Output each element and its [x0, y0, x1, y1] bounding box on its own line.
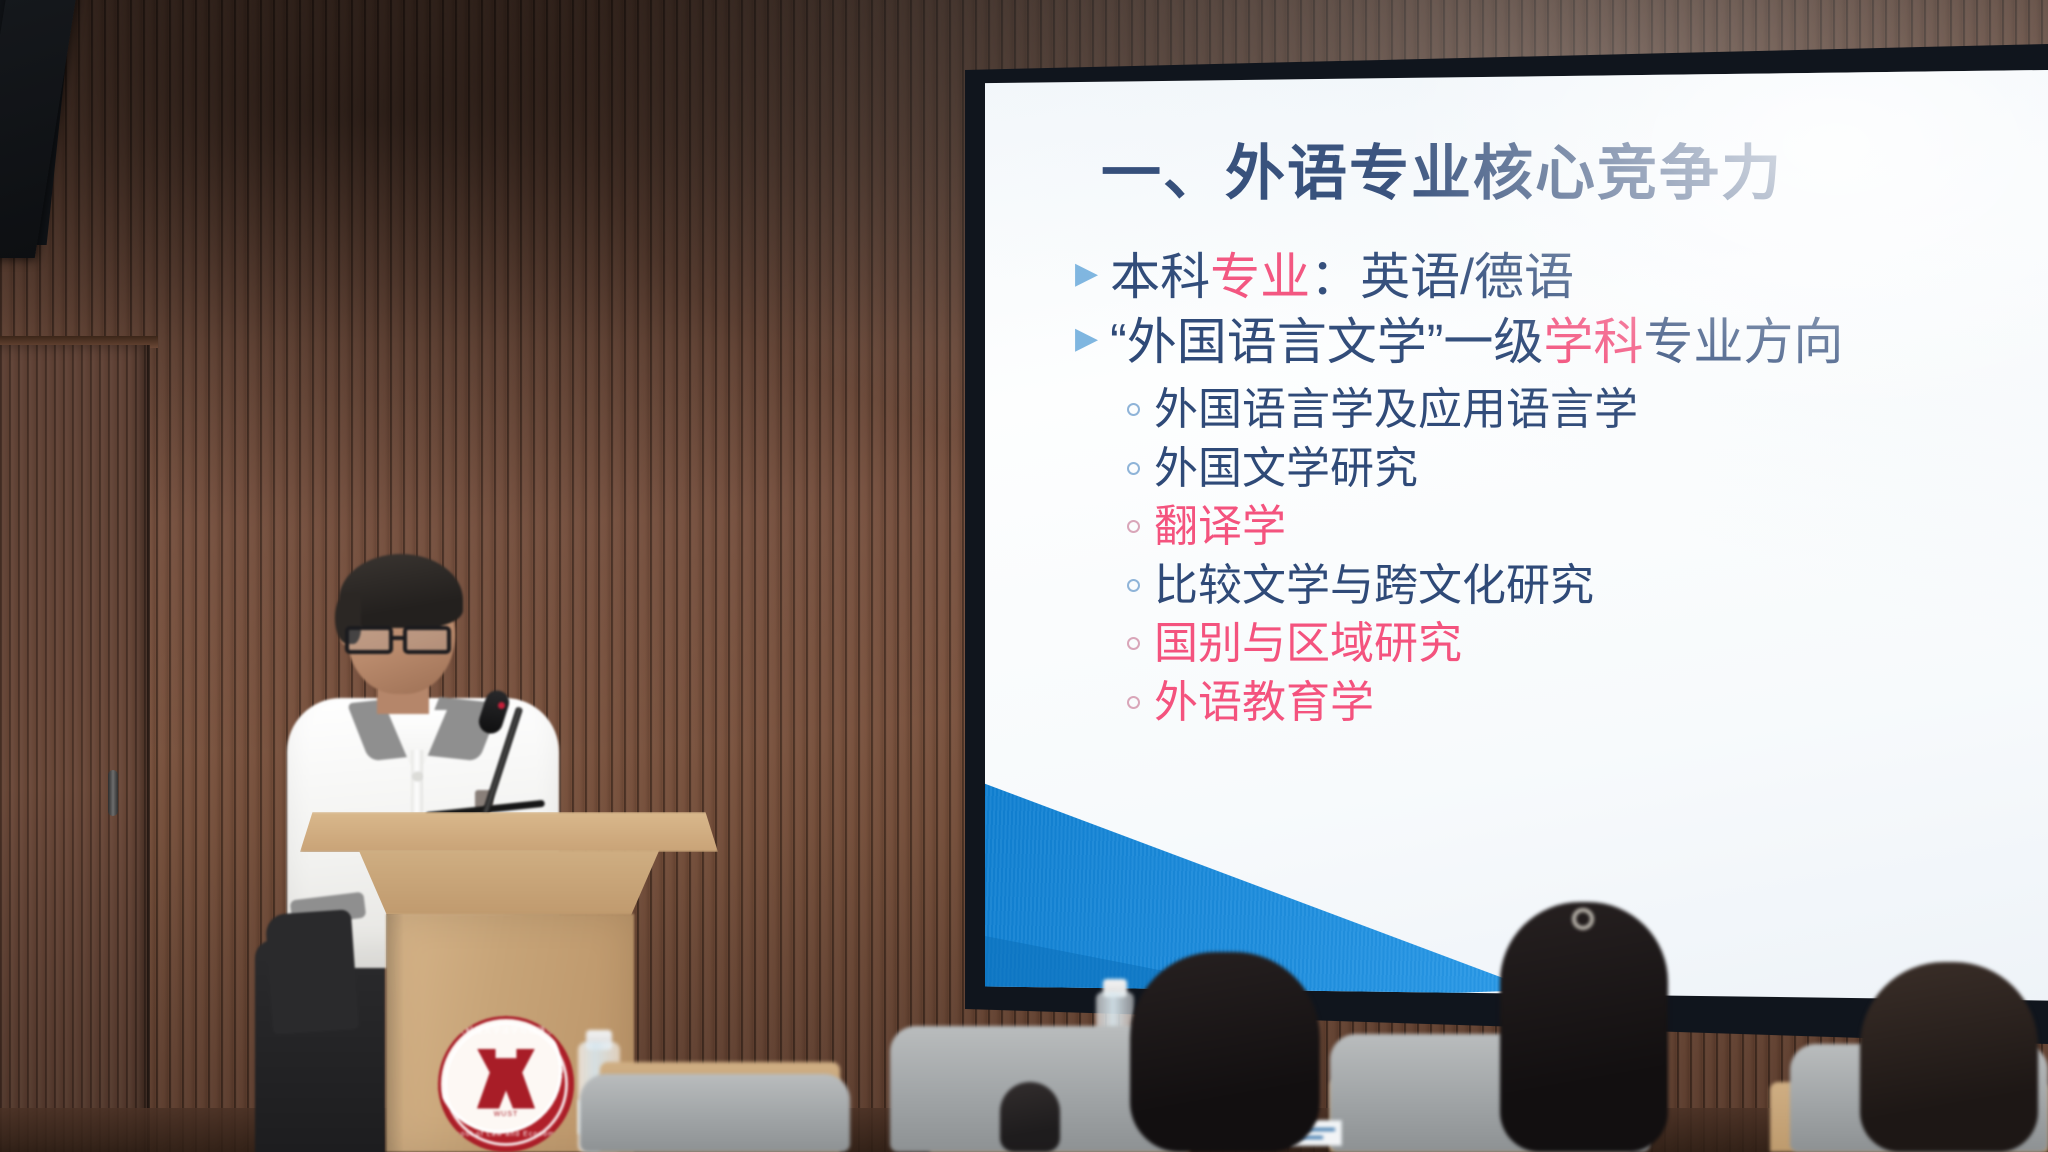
- slide-bullet-2-text: “外国语言文学”一级学科专业方向: [1110, 310, 1843, 375]
- speaker-arm: [265, 909, 359, 1035]
- slide-sub-item-3: 翻译学: [1127, 498, 2018, 557]
- slide-sub-item-1: 外国语言学及应用语言学: [1127, 381, 2018, 440]
- auditorium-seat[interactable]: [580, 1074, 850, 1152]
- glasses-icon: [345, 626, 463, 656]
- audience-head-2: [1500, 902, 1668, 1152]
- bullet-1-segment-2-highlight: 专业: [1210, 249, 1310, 305]
- glasses-lens-right: [403, 626, 451, 654]
- glasses-lens-left: [345, 626, 393, 654]
- podium-edge-shadow: [386, 914, 404, 1152]
- audience-head-3: [1860, 962, 2038, 1152]
- slide-sub-item-3-label: 翻译学: [1154, 498, 1286, 557]
- triangle-bullet-icon: ▶: [1075, 310, 1098, 367]
- slide-sub-item-4-label: 比较文学与跨文化研究: [1154, 557, 1594, 616]
- slide-bullet-2: ▶ “外国语言文学”一级学科专业方向: [1075, 310, 2018, 375]
- emblem-bottom-text: School of Law and Economics: [438, 1131, 574, 1138]
- slide-title: 一、外语专业核心竞争力: [1101, 142, 2018, 205]
- podium-top: [300, 812, 718, 852]
- triangle-bullet-icon: ▶: [1075, 245, 1098, 302]
- slide-sub-item-6: 外语教育学: [1127, 674, 2018, 733]
- ring-bullet-icon: [1127, 696, 1140, 709]
- ring-bullet-icon: [1127, 579, 1140, 592]
- lecture-hall-photo: 一、外语专业核心竞争力 ▶ 本科专业：英语/德语 ▶ “外国语言文学”一级学科专…: [0, 0, 2048, 1152]
- bullet-1-segment-1: 本科: [1110, 249, 1210, 305]
- projection-screen-bezel: 一、外语专业核心竞争力 ▶ 本科专业：英语/德语 ▶ “外国语言文学”一级学科专…: [965, 44, 2048, 1044]
- ring-bullet-icon: [1127, 520, 1140, 533]
- slide-sub-item-2-label: 外国文学研究: [1154, 440, 1418, 499]
- ring-bullet-icon: [1127, 403, 1140, 416]
- audience-head-4: [1000, 1082, 1060, 1152]
- ring-bullet-icon: [1127, 637, 1140, 650]
- slide-bullet-list: ▶ 本科专业：英语/德语 ▶ “外国语言文学”一级学科专业方向 外国语言学及应用…: [1075, 245, 2018, 732]
- bullet-2-segment-1: “外国语言文学”一级: [1110, 314, 1543, 370]
- audience-head-1: [1130, 952, 1320, 1152]
- microphone-indicator: [498, 702, 505, 709]
- podium-neck: [330, 850, 688, 916]
- emblem-top-text: 武汉科技大学法学与经济学院: [438, 1025, 574, 1036]
- university-emblem: 武汉科技大学法学与经济学院 WUST School of Law and Eco…: [438, 1016, 574, 1152]
- slide-bullet-1-text: 本科专业：英语/德语: [1110, 245, 1574, 310]
- bullet-2-segment-3: 专业方向: [1643, 314, 1843, 370]
- slide-sub-item-5-label: 国别与区域研究: [1154, 615, 1462, 674]
- slide-sub-item-5: 国别与区域研究: [1127, 615, 2018, 674]
- door-handle[interactable]: [108, 770, 118, 816]
- hall-door[interactable]: [0, 345, 150, 1152]
- hair-clip-icon: [1572, 908, 1594, 930]
- slide-sub-item-4: 比较文学与跨文化研究: [1127, 557, 2018, 616]
- slide-sub-item-2: 外国文学研究: [1127, 440, 2018, 499]
- slide-sub-item-list: 外国语言学及应用语言学 外国文学研究 翻译学 比较文学与跨文化研究: [1127, 381, 2018, 732]
- slide-bullet-1: ▶ 本科专业：英语/德语: [1075, 245, 2018, 310]
- ring-bullet-icon: [1127, 462, 1140, 475]
- emblem-sub-text: WUST: [438, 1111, 574, 1118]
- speaker-shirt-button: [413, 772, 422, 781]
- bullet-2-segment-2-highlight: 学科: [1543, 314, 1643, 370]
- bullet-1-segment-3: ：英语/德语: [1310, 249, 1574, 305]
- glasses-bridge: [391, 636, 405, 640]
- slide-sub-item-1-label: 外国语言学及应用语言学: [1154, 381, 1638, 440]
- projection-screen[interactable]: 一、外语专业核心竞争力 ▶ 本科专业：英语/德语 ▶ “外国语言文学”一级学科专…: [985, 70, 2048, 1010]
- slide-sub-item-6-label: 外语教育学: [1154, 674, 1374, 733]
